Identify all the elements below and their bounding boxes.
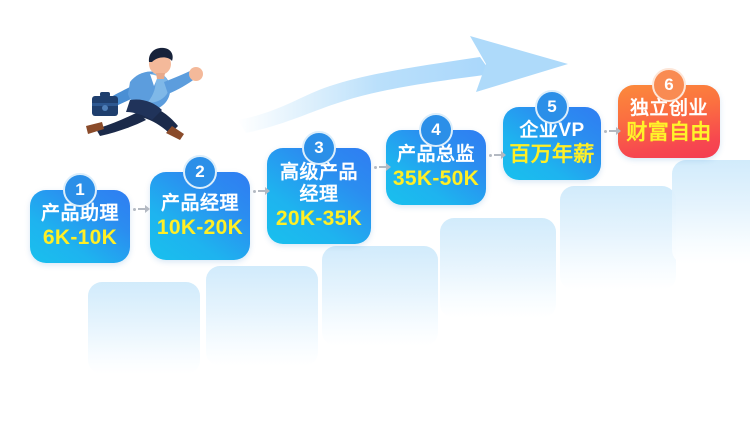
step-5-badge: 5 [535,90,569,124]
connector-5-6 [604,126,621,136]
step-1-salary: 6K-10K [43,226,117,250]
career-path-infographic: 产品助理 6K-10K 1 产品经理 10K-20K 2 高级产品 经理 20K… [0,0,750,442]
step-2-salary: 10K-20K [157,216,243,240]
step-4-badge: 4 [419,113,453,147]
connector-bar [379,166,386,168]
card-reflection-5 [560,186,676,290]
step-4-salary: 35K-50K [393,167,479,191]
connector-dot [374,166,377,169]
step-2-title: 产品经理 [161,193,239,215]
running-businessman-icon [72,34,212,164]
step-6-salary: 财富自由 [626,121,711,145]
step-4-title: 产品总监 [397,144,475,166]
connector-arrowhead-icon [265,187,270,195]
card-reflection-6 [672,160,750,264]
connector-1-2 [133,204,150,214]
connector-dot [489,154,492,157]
step-6-badge: 6 [652,68,686,102]
connector-dot [604,130,607,133]
connector-arrowhead-icon [501,151,506,159]
connector-arrowhead-icon [386,163,391,171]
step-5-salary: 百万年薪 [509,143,594,167]
connector-bar [609,130,616,132]
connector-dot [133,208,136,211]
connector-arrowhead-icon [145,205,150,213]
step-3-title-line2: 经理 [299,184,338,206]
connector-3-4 [374,162,391,172]
connector-4-5 [489,150,506,160]
card-reflection-1 [88,282,200,374]
connector-2-3 [253,186,270,196]
connector-bar [138,208,145,210]
step-3-badge: 3 [302,131,336,165]
connector-bar [258,190,265,192]
card-reflection-4 [440,218,556,318]
connector-bar [494,154,501,156]
step-1-badge: 1 [63,173,97,207]
step-3-salary: 20K-35K [276,207,362,231]
card-reflection-3 [322,246,438,346]
connector-arrowhead-icon [616,127,621,135]
connector-dot [253,190,256,193]
card-reflection-2 [206,266,318,366]
